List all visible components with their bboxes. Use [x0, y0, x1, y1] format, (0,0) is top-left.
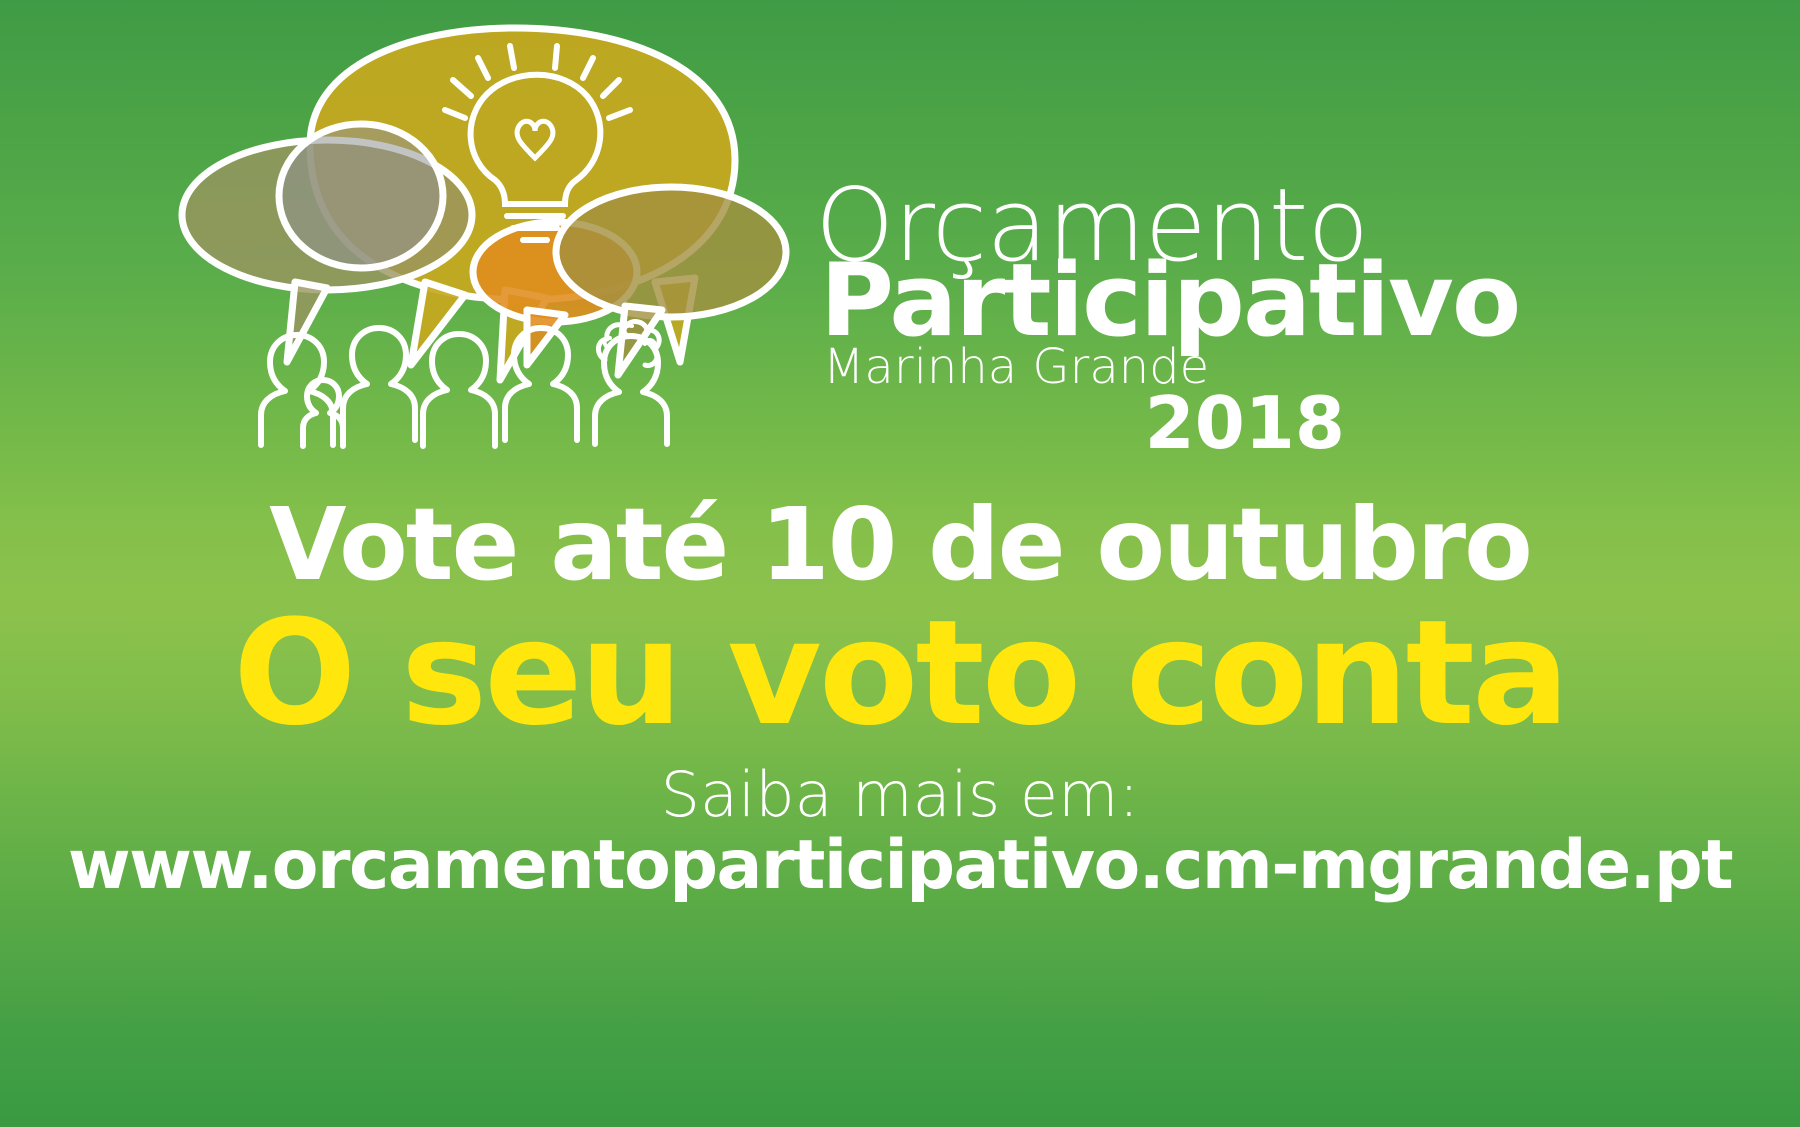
website-url[interactable]: www.orcamentoparticipativo.cm-mgrande.pt [0, 832, 1800, 900]
speech-bubbles-icon [175, 10, 795, 460]
brand-year: 2018 [815, 387, 1345, 459]
poster-canvas: Orçamento Participativo Marinha Grande 2… [0, 0, 1800, 1127]
bubble-right [556, 187, 786, 375]
brand-line-participativo: Participativo [820, 250, 1455, 351]
more-info-label: Saiba mais em: [0, 764, 1800, 826]
people-group-icon [261, 322, 667, 446]
logo [175, 10, 795, 460]
brand-title-block: Orçamento Participativo Marinha Grande 2… [815, 175, 1455, 459]
slogan-text: O seu voto conta [0, 601, 1800, 746]
bubble-small-gray [279, 124, 443, 268]
tagline-block: Vote até 10 de outubro O seu voto conta … [0, 495, 1800, 900]
voting-deadline-text: Vote até 10 de outubro [0, 495, 1800, 595]
